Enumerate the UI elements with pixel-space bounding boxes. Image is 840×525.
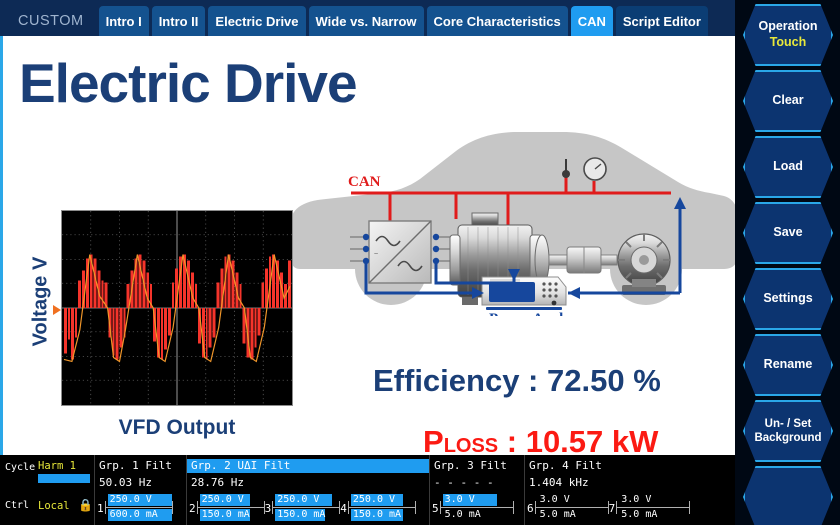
group-2-header: Grp. 2 UΔI Filt — [187, 459, 429, 473]
channel-scale-line — [348, 507, 416, 508]
channel-7-bars: 3.0 V 5.0 mA — [616, 493, 690, 523]
channel-row[interactable]: 7 3.0 V 5.0 mA — [609, 493, 691, 523]
softkey-operation-value: Touch — [770, 35, 807, 51]
cycle-label: Cycle — [5, 462, 35, 473]
softkey-background-label-2: Background — [754, 431, 821, 445]
group-1-frequency: 50.03 Hz — [99, 476, 152, 489]
ploss-subscript: LOSS — [444, 435, 498, 455]
softkey-rename[interactable]: Rename — [743, 334, 833, 396]
channel-6-bars: 3.0 V 5.0 mA — [535, 493, 609, 523]
channel-row[interactable]: 6 3.0 V 5.0 mA — [527, 493, 609, 523]
tab-wide-vs-narrow[interactable]: Wide vs. Narrow — [309, 6, 424, 36]
channel-scale-line — [105, 507, 173, 508]
channel-5-number: 5 — [432, 502, 439, 515]
power-analyzer-label: Power Analyzer — [489, 311, 591, 316]
channel-1-bars: 250.0 V 600.0 mA — [105, 493, 173, 523]
group-4-channels: 6 3.0 V 5.0 mA 7 3.0 V — [527, 493, 690, 523]
softkey-load[interactable]: Load — [743, 136, 833, 198]
tab-script-editor[interactable]: Script Editor — [616, 6, 708, 36]
channel-3-number: 3 — [265, 502, 272, 515]
drivetrain-diagram: CAN ~ — [286, 41, 735, 316]
group-block-3[interactable]: Grp. 3 Filt - - - - - 5 3.0 V 5.0 mA — [430, 455, 525, 525]
group-3-channels: 5 3.0 V 5.0 mA — [432, 493, 514, 523]
main-content-panel: Electric Drive — [0, 36, 735, 455]
channel-scale-line — [535, 507, 609, 508]
ctrl-value: Local — [38, 500, 70, 512]
channel-tick-right — [415, 501, 416, 514]
channel-7-voltage: 3.0 V — [619, 494, 651, 506]
status-bar: Cycle Harm 1 Ctrl Local 🔒 Grp. 1 Filt 50… — [0, 455, 735, 525]
channel-3-current: 150.0 mA — [275, 509, 325, 521]
channel-tick-left — [616, 501, 617, 514]
group-3-frequency: - - - - - — [434, 476, 494, 489]
softkey-settings-label: Settings — [763, 291, 812, 307]
channel-tick-left — [535, 501, 536, 514]
channel-scale-line — [616, 507, 690, 508]
channel-6-current: 5.0 mA — [538, 509, 576, 521]
efficiency-readout: Efficiency : 72.50 % — [373, 363, 661, 399]
channel-6-number: 6 — [527, 502, 534, 515]
channel-1-current: 600.0 mA — [108, 509, 172, 521]
channel-tick-left — [197, 501, 198, 514]
custom-label: CUSTOM — [14, 13, 96, 36]
application-window: CUSTOM Intro I Intro II Electric Drive W… — [0, 0, 840, 525]
tab-intro-i[interactable]: Intro I — [99, 6, 149, 36]
channel-4-current: 150.0 mA — [351, 509, 403, 521]
channel-7-current: 5.0 mA — [619, 509, 657, 521]
softkey-settings[interactable]: Settings — [743, 268, 833, 330]
status-cycle-block[interactable]: Cycle Harm 1 Ctrl Local 🔒 — [0, 455, 95, 525]
softkey-empty[interactable] — [743, 466, 833, 525]
group-1-channels: 1 250.0 V 600.0 mA — [97, 493, 173, 523]
channel-2-current: 150.0 mA — [200, 509, 250, 521]
group-3-header: Grp. 3 Filt — [430, 459, 511, 473]
softkey-clear-label: Clear — [772, 93, 803, 109]
channel-row[interactable]: 5 3.0 V 5.0 mA — [432, 493, 514, 523]
ploss-symbol: P — [423, 424, 444, 455]
softkey-background[interactable]: Un- / Set Background — [743, 400, 833, 462]
channel-1-number: 1 — [97, 502, 104, 515]
ploss-separator: : — [498, 424, 526, 455]
group-4-header: Grp. 4 Filt — [525, 459, 606, 473]
channel-row[interactable]: 4 250.0 V 150.0 mA — [340, 493, 416, 523]
channel-tick-left — [272, 501, 273, 514]
efficiency-label: Efficiency : — [373, 363, 547, 398]
ctrl-label: Ctrl — [5, 500, 29, 511]
channel-7-number: 7 — [609, 502, 616, 515]
channel-tick-left — [348, 501, 349, 514]
channel-scale-line — [440, 507, 514, 508]
scope-y-axis-label: Voltage V — [30, 232, 53, 372]
channel-5-bars: 3.0 V 5.0 mA — [440, 493, 514, 523]
channel-4-bars: 250.0 V 150.0 mA — [348, 493, 416, 523]
softkey-clear[interactable]: Clear — [743, 70, 833, 132]
power-loss-readout: PLOSS : 10.57 kW — [423, 424, 658, 455]
channel-5-current: 5.0 mA — [443, 509, 481, 521]
svg-text:~: ~ — [374, 251, 378, 258]
channel-row[interactable]: 3 250.0 V 150.0 mA — [265, 493, 341, 523]
waveform-display[interactable] — [61, 210, 293, 406]
scope-caption: VFD Output — [61, 416, 293, 440]
channel-tick-left — [105, 501, 106, 514]
softkey-save-label: Save — [773, 225, 802, 241]
softkey-load-label: Load — [773, 159, 803, 175]
channel-3-bars: 250.0 V 150.0 mA — [272, 493, 340, 523]
soft-key-rail: Operation Touch Clear Load Save Settings… — [735, 0, 840, 525]
channel-2-bars: 250.0 V 150.0 mA — [197, 493, 265, 523]
channel-tick-right — [689, 501, 690, 514]
softkey-rename-label: Rename — [764, 357, 813, 373]
ploss-value: 10.57 kW — [526, 424, 659, 455]
trigger-level-marker-icon — [53, 305, 61, 315]
tab-electric-drive[interactable]: Electric Drive — [208, 6, 305, 36]
channel-scale-line — [197, 507, 265, 508]
softkey-save[interactable]: Save — [743, 202, 833, 264]
channel-3-voltage: 250.0 V — [275, 494, 332, 506]
can-label: CAN — [348, 174, 381, 190]
lock-icon[interactable]: 🔒 — [78, 498, 93, 512]
group-2-frequency: 28.76 Hz — [191, 476, 244, 489]
tab-intro-ii[interactable]: Intro II — [152, 6, 206, 36]
channel-6-voltage: 3.0 V — [538, 494, 570, 506]
group-block-2[interactable]: Grp. 2 UΔI Filt 28.76 Hz 2 250.0 V 150.0… — [187, 455, 430, 525]
softkey-operation-label: Operation — [758, 19, 817, 35]
efficiency-value: 72.50 % — [547, 363, 661, 398]
group-4-frequency: 1.404 kHz — [529, 476, 589, 489]
group-block-4[interactable]: Grp. 4 Filt 1.404 kHz 6 3.0 V 5.0 mA 7 — [525, 455, 695, 525]
scope-panel: Voltage V — [13, 204, 293, 454]
softkey-operation[interactable]: Operation Touch — [743, 4, 833, 66]
channel-2-voltage: 250.0 V — [200, 494, 250, 506]
cycle-harm-value: Harm 1 — [38, 460, 76, 472]
channel-4-number: 4 — [340, 502, 347, 515]
channel-row[interactable]: 2 250.0 V 150.0 mA — [189, 493, 265, 523]
tab-can[interactable]: CAN — [571, 6, 613, 36]
tab-core-characteristics[interactable]: Core Characteristics — [427, 6, 568, 36]
softkey-background-label-1: Un- / Set — [765, 417, 812, 431]
channel-scale-line — [272, 507, 340, 508]
tab-bar: CUSTOM Intro I Intro II Electric Drive W… — [0, 0, 735, 36]
channel-tick-right — [172, 501, 173, 514]
group-1-header: Grp. 1 Filt — [95, 459, 176, 473]
channel-tick-left — [440, 501, 441, 514]
cycle-progress-bar — [38, 474, 90, 483]
group-block-1[interactable]: Grp. 1 Filt 50.03 Hz 1 250.0 V 600.0 mA — [95, 455, 187, 525]
channel-5-voltage: 3.0 V — [443, 494, 497, 506]
channel-2-number: 2 — [189, 502, 196, 515]
dynamometer — [618, 234, 670, 295]
group-2-channels: 2 250.0 V 150.0 mA 3 250. — [189, 493, 416, 523]
channel-1-voltage: 250.0 V — [108, 494, 172, 506]
channel-row[interactable]: 1 250.0 V 600.0 mA — [97, 493, 173, 523]
channel-4-voltage: 250.0 V — [351, 494, 403, 506]
channel-tick-right — [513, 501, 514, 514]
